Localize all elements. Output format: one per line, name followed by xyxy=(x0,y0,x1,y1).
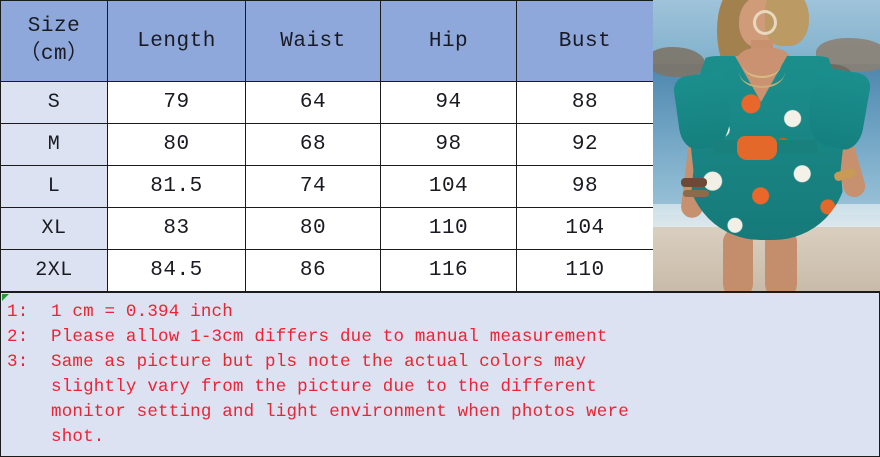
column-header-hip: Hip xyxy=(381,1,517,82)
cell-length: 83 xyxy=(108,208,246,250)
cell-bust: 110 xyxy=(517,250,654,292)
cell-bust: 104 xyxy=(517,208,654,250)
cell-size: L xyxy=(1,166,108,208)
photo-model-bracelet xyxy=(681,178,707,187)
cell-waist: 68 xyxy=(246,124,381,166)
note-item: 2: Please allow 1-3cm differs due to man… xyxy=(1,325,879,350)
size-table: Size （cm） Length Waist Hip Bust S 79 64 xyxy=(0,0,654,292)
note-text: 1 cm = 0.394 inch xyxy=(51,300,879,325)
table-row: M 80 68 98 92 xyxy=(1,124,654,166)
note-continuation: shot. xyxy=(1,425,879,450)
note-text: Please allow 1-3cm differs due to manual… xyxy=(51,325,879,350)
cell-size: XL xyxy=(1,208,108,250)
note-text: slightly vary from the picture due to th… xyxy=(51,375,879,400)
cell-waist: 74 xyxy=(246,166,381,208)
cell-hip: 94 xyxy=(381,82,517,124)
cell-bust: 88 xyxy=(517,82,654,124)
chart-and-photo-area: Size （cm） Length Waist Hip Bust S 79 64 xyxy=(0,0,880,291)
product-photo xyxy=(653,0,880,291)
cell-hip: 116 xyxy=(381,250,517,292)
corner-marker-icon xyxy=(2,294,9,301)
note-continuation: monitor setting and light environment wh… xyxy=(1,400,879,425)
table-row: XL 83 80 110 104 xyxy=(1,208,654,250)
cell-waist: 80 xyxy=(246,208,381,250)
cell-hip: 104 xyxy=(381,166,517,208)
notes-panel: 1: 1 cm = 0.394 inch 2: Please allow 1-3… xyxy=(0,291,880,457)
photo-model-earring xyxy=(753,10,777,35)
note-item: 3: Same as picture but pls note the actu… xyxy=(1,350,879,375)
size-chart-page: Size （cm） Length Waist Hip Bust S 79 64 xyxy=(0,0,880,457)
cell-length: 79 xyxy=(108,82,246,124)
table-row: L 81.5 74 104 98 xyxy=(1,166,654,208)
cell-size: 2XL xyxy=(1,250,108,292)
cell-waist: 64 xyxy=(246,82,381,124)
column-header-bust: Bust xyxy=(517,1,654,82)
cell-waist: 86 xyxy=(246,250,381,292)
cell-size: M xyxy=(1,124,108,166)
note-text: shot. xyxy=(51,425,879,450)
column-header-length: Length xyxy=(108,1,246,82)
photo-model-bracelet xyxy=(683,190,709,197)
size-table-container: Size （cm） Length Waist Hip Bust S 79 64 xyxy=(0,0,653,291)
cell-bust: 98 xyxy=(517,166,654,208)
note-text: monitor setting and light environment wh… xyxy=(51,400,879,425)
cell-length: 81.5 xyxy=(108,166,246,208)
cell-size: S xyxy=(1,82,108,124)
cell-hip: 98 xyxy=(381,124,517,166)
table-row: S 79 64 94 88 xyxy=(1,82,654,124)
cell-bust: 92 xyxy=(517,124,654,166)
note-continuation: slightly vary from the picture due to th… xyxy=(1,375,879,400)
photo-romper-bow xyxy=(737,136,777,160)
cell-hip: 110 xyxy=(381,208,517,250)
header-size-line2: （cm） xyxy=(1,41,107,69)
cell-length: 84.5 xyxy=(108,250,246,292)
note-text: Same as picture but pls note the actual … xyxy=(51,350,879,375)
note-number: 3: xyxy=(1,350,51,375)
header-size-line1: Size xyxy=(1,13,107,41)
note-number: 2: xyxy=(1,325,51,350)
table-row: 2XL 84.5 86 116 110 xyxy=(1,250,654,292)
header-row: Size （cm） Length Waist Hip Bust xyxy=(1,1,654,82)
column-header-size: Size （cm） xyxy=(1,1,108,82)
note-item: 1: 1 cm = 0.394 inch xyxy=(1,300,879,325)
note-number: 1: xyxy=(1,300,51,325)
size-table-body: S 79 64 94 88 M 80 68 98 92 L xyxy=(1,82,654,292)
size-table-header: Size （cm） Length Waist Hip Bust xyxy=(1,1,654,82)
photo-model-necklace xyxy=(739,56,785,88)
cell-length: 80 xyxy=(108,124,246,166)
column-header-waist: Waist xyxy=(246,1,381,82)
